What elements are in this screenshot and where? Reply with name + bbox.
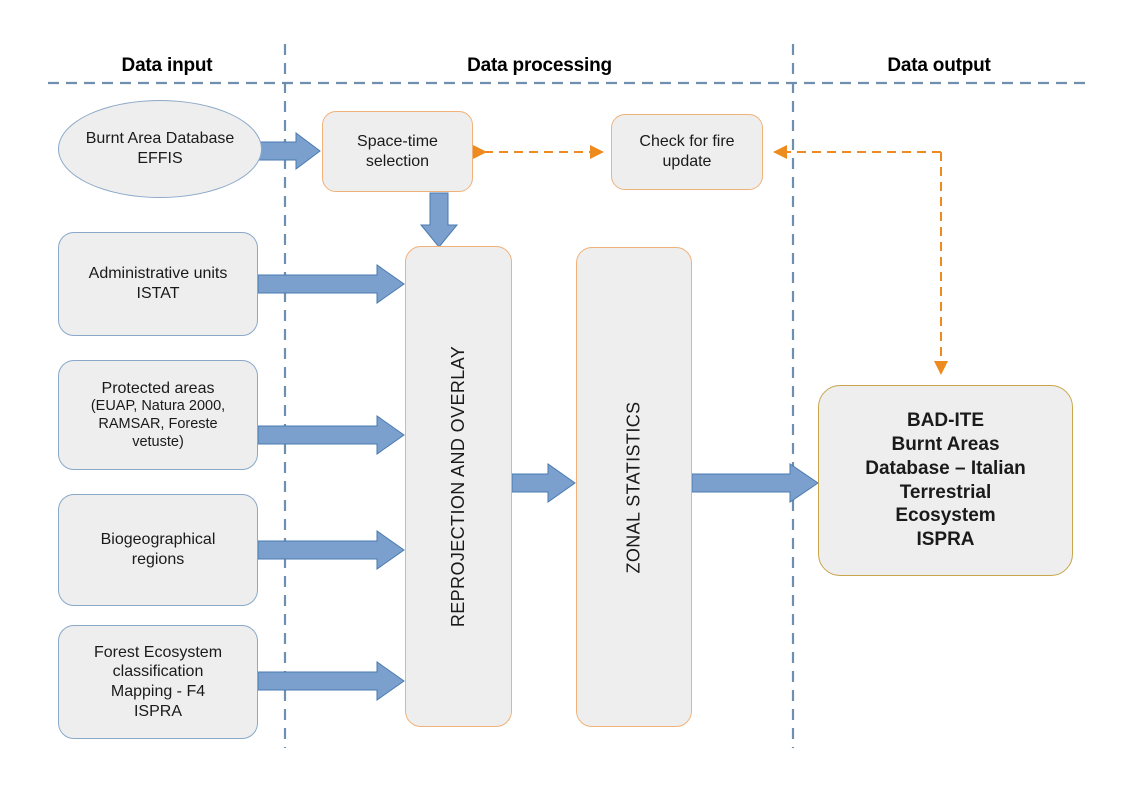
input-node-forest-ecosystem[interactable]: Forest Ecosystem classification Mapping … (58, 625, 258, 739)
protected-line-1: (EUAP, Natura 2000, (91, 398, 225, 416)
output-line-6: ISPRA (865, 528, 1026, 552)
arrow-reprojection-to-zonal (512, 464, 575, 502)
input-node-protected-areas[interactable]: Protected areas (EUAP, Natura 2000, RAMS… (58, 360, 258, 470)
forest-line-4: ISPRA (94, 702, 222, 722)
istat-line-1: Administrative units (89, 264, 228, 284)
arrow-spacetime-to-reprojection (421, 193, 457, 247)
biogeo-line-2: regions (101, 550, 216, 570)
istat-line-2: ISTAT (89, 284, 228, 304)
space-time-line-2: selection (357, 152, 438, 172)
reprojection-label: REPROJECTION AND OVERLAY (448, 346, 469, 627)
input-node-istat[interactable]: Administrative units ISTAT (58, 232, 258, 336)
effis-line-1: Burnt Area Database (86, 129, 235, 149)
protected-line-2: RAMSAR, Foreste (91, 416, 225, 434)
output-line-2: Burnt Areas (865, 433, 1026, 457)
arrow-output-to-checkfire (776, 152, 941, 372)
arrow-forest-to-reprojection (258, 662, 404, 700)
forest-line-2: classification (94, 662, 222, 682)
process-node-space-time-selection[interactable]: Space-time selection (322, 111, 473, 192)
process-node-zonal-statistics[interactable]: ZONAL STATISTICS (576, 247, 692, 727)
process-node-check-for-fire-update[interactable]: Check for fire update (611, 114, 763, 190)
input-node-biogeographical-regions[interactable]: Biogeographical regions (58, 494, 258, 606)
output-line-5: Ecosystem (865, 504, 1026, 528)
zonal-statistics-label: ZONAL STATISTICS (624, 401, 645, 573)
process-node-reprojection-and-overlay[interactable]: REPROJECTION AND OVERLAY (405, 246, 512, 727)
forest-line-1: Forest Ecosystem (94, 643, 222, 663)
check-fire-line-2: update (639, 152, 734, 172)
protected-title: Protected areas (91, 379, 225, 399)
arrow-istat-to-reprojection (258, 265, 404, 303)
effis-line-2: EFFIS (86, 149, 235, 169)
output-line-1: BAD-ITE (865, 409, 1026, 433)
forest-line-3: Mapping - F4 (94, 682, 222, 702)
output-node-bad-ite[interactable]: BAD-ITE Burnt Areas Database – Italian T… (818, 385, 1073, 576)
arrow-zonal-to-output (692, 464, 818, 502)
arrow-effis-to-spacetime (258, 133, 320, 169)
check-fire-line-1: Check for fire (639, 132, 734, 152)
arrow-protected-to-reprojection (258, 416, 404, 454)
output-line-4: Terrestrial (865, 481, 1026, 505)
diagram-canvas: Data input Data processing Data output (0, 0, 1123, 794)
biogeo-line-1: Biogeographical (101, 530, 216, 550)
output-line-3: Database – Italian (865, 457, 1026, 481)
protected-line-3: vetuste) (91, 434, 225, 452)
arrow-biogeo-to-reprojection (258, 531, 404, 569)
input-node-effis[interactable]: Burnt Area Database EFFIS (58, 100, 262, 198)
space-time-line-1: Space-time (357, 132, 438, 152)
